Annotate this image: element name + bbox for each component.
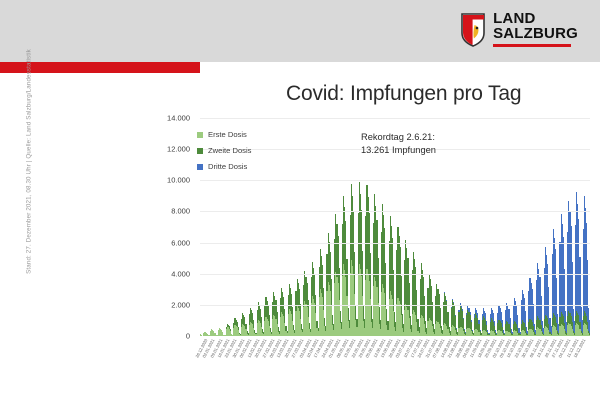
page-title: Covid: Impfungen pro Tag	[286, 82, 586, 106]
y-axis-tick-label: 6.000	[146, 238, 190, 247]
legend-swatch	[197, 164, 203, 170]
y-axis-tick-label: 10.000	[146, 176, 190, 185]
gridline	[200, 180, 590, 181]
bar-column	[589, 118, 590, 336]
record-day-annotation: Rekordtag 2.6.21: 13.261 Impfungen	[361, 131, 436, 158]
gridline	[200, 118, 590, 119]
slide-root: LAND SALZBURG Stand: 27. Dezember 2021, …	[0, 0, 600, 400]
y-axis-tick-label: 4.000	[146, 269, 190, 278]
bar-segment	[589, 320, 590, 333]
legend-swatch	[197, 132, 203, 138]
gridline	[200, 274, 590, 275]
y-axis: 14.00012.00010.0008.0006.0004.0002.0000	[152, 118, 196, 350]
gridline	[200, 243, 590, 244]
gridline	[200, 305, 590, 306]
y-axis-tick-label: 0	[146, 332, 190, 341]
y-axis-tick-label: 8.000	[146, 207, 190, 216]
legend-swatch	[197, 148, 203, 154]
legend-label: Erste Dosis	[208, 130, 247, 139]
y-axis-tick-label: 2.000	[146, 300, 190, 309]
logo-line-salzburg: SALZBURG	[493, 27, 578, 42]
logo-wordmark: LAND SALZBURG	[493, 12, 578, 47]
y-axis-tick-label: 12.000	[146, 145, 190, 154]
land-salzburg-logo: LAND SALZBURG	[460, 12, 578, 47]
x-axis-labels: 26.12.202002.01.202109.01.202116.01.2021…	[200, 338, 586, 396]
annotation-line-1: Rekordtag 2.6.21:	[361, 131, 436, 144]
salzburg-coat-of-arms-icon	[460, 13, 486, 47]
annotation-line-2: 13.261 Impfungen	[361, 144, 436, 157]
source-note: Stand: 27. Dezember 2021, 08.30 Uhr | Qu…	[26, 37, 33, 287]
legend-item-2: Dritte Dosis	[197, 162, 251, 171]
legend-item-1: Zweite Dosis	[197, 146, 251, 155]
legend-item-0: Erste Dosis	[197, 130, 251, 139]
gridline	[200, 211, 590, 212]
legend-label: Zweite Dosis	[208, 146, 251, 155]
legend-label: Dritte Dosis	[208, 162, 247, 171]
chart-legend: Erste DosisZweite DosisDritte Dosis	[197, 130, 251, 178]
y-axis-tick-label: 14.000	[146, 114, 190, 123]
logo-underline	[493, 44, 571, 47]
